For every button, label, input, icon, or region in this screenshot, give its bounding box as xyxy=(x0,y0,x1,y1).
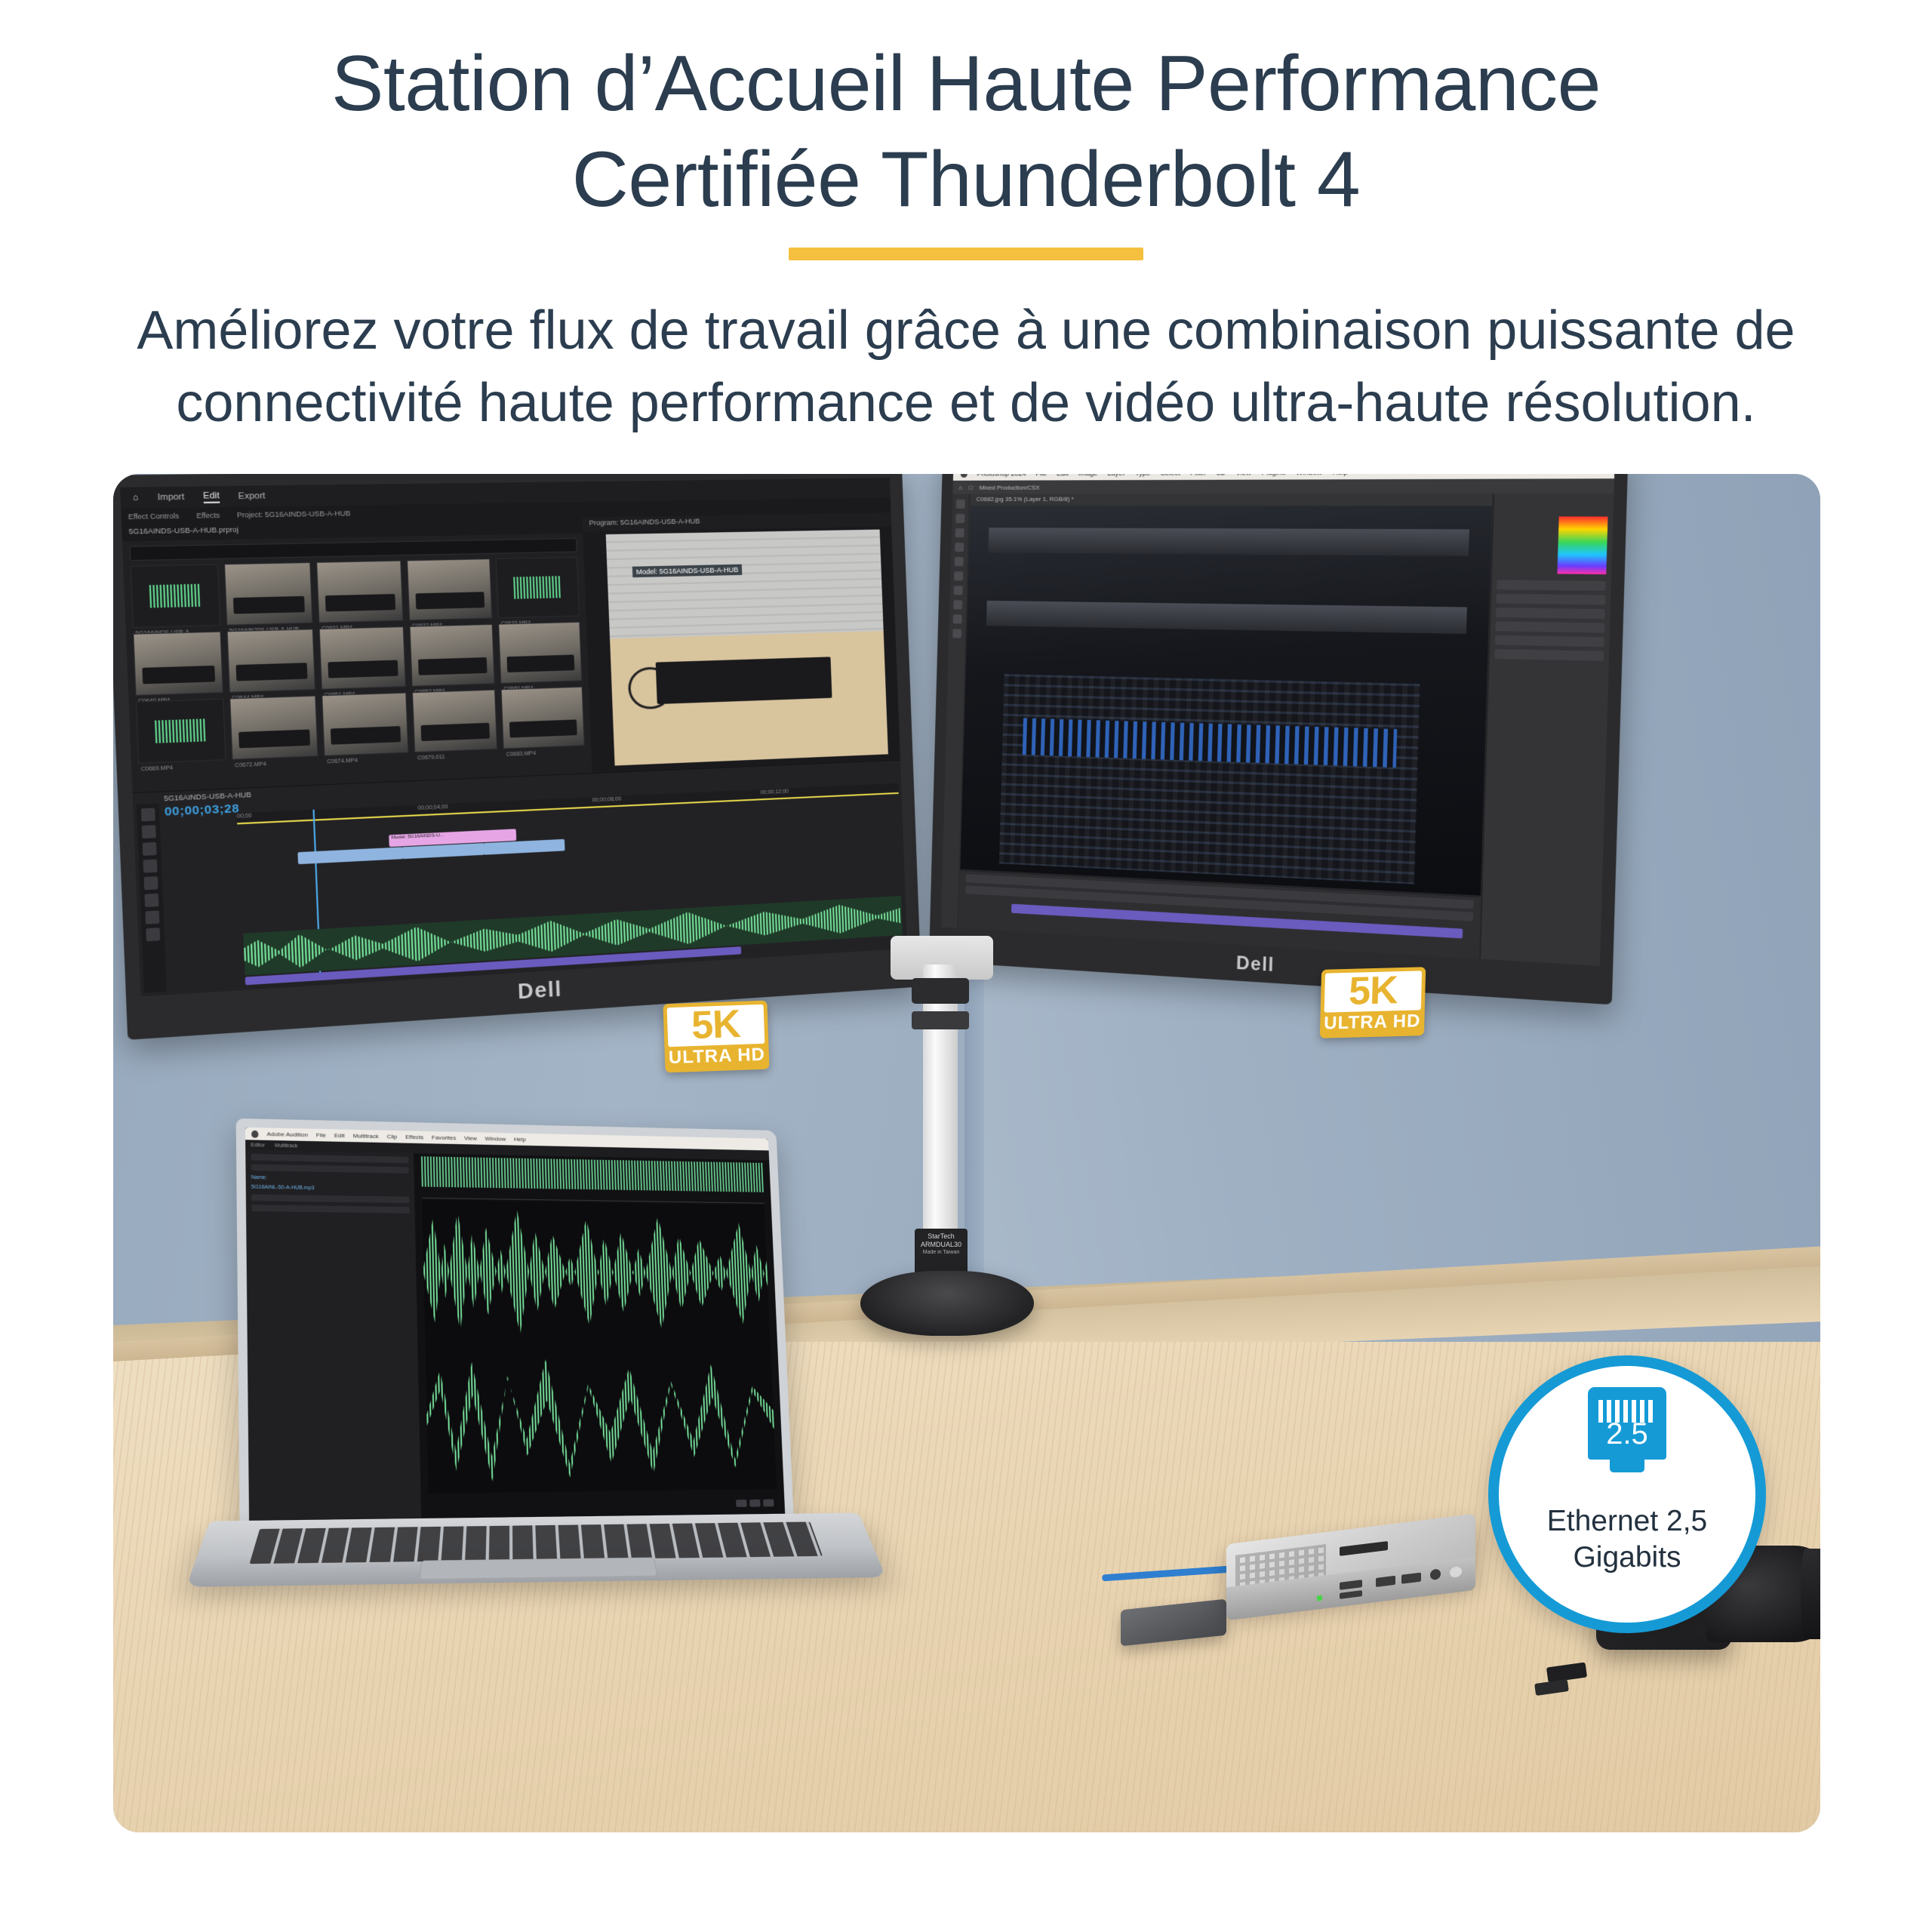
bin-item[interactable]: C0672.MP4 xyxy=(229,695,318,759)
badge-inner: 5K xyxy=(1324,971,1422,1013)
menu-item-file[interactable]: File xyxy=(316,1132,326,1139)
page-title: Station d’Accueil Haute Performance Cert… xyxy=(136,36,1796,228)
panel-row[interactable] xyxy=(1495,635,1604,648)
menu-item-select[interactable]: Select xyxy=(1161,474,1180,476)
menu-item-window[interactable]: Window xyxy=(485,1135,506,1142)
bin-item[interactable]: C0683.MP4 xyxy=(501,687,585,749)
panel-row[interactable] xyxy=(1497,580,1606,591)
bin-item[interactable]: C0640.MP4 xyxy=(133,632,223,696)
menu-item-help[interactable]: Help xyxy=(514,1136,526,1143)
video-background-wall xyxy=(605,530,883,638)
menu-item-edit[interactable]: Edit xyxy=(203,491,220,503)
eraser-tool-icon[interactable] xyxy=(952,629,961,638)
product-photo-panel: ⌂ Import Edit Export Effect Controls Eff… xyxy=(113,474,1820,1832)
workspace-label: Mixed Production/CSX xyxy=(980,484,1040,491)
bin-item[interactable]: C0679.011 xyxy=(412,689,497,752)
marquee-tool-icon[interactable] xyxy=(955,514,964,523)
menu-item-edit[interactable]: Edit xyxy=(334,1132,345,1139)
tab-project[interactable]: Project: 5G16AINDS-USB-A-HUB xyxy=(237,509,351,519)
record-button-icon[interactable] xyxy=(763,1500,774,1507)
photoshop-canvas[interactable] xyxy=(960,506,1492,896)
headline-line-2: Certifiée Thunderbolt 4 xyxy=(136,132,1796,228)
stand-model: ARMDUAL30 xyxy=(915,1241,968,1249)
stand-origin: Made in Taiwan xyxy=(915,1250,968,1257)
badge-5k-ultra-hd-right: 5K ULTRA HD xyxy=(1320,967,1426,1038)
photoshop-options-bar[interactable]: ⌂ □ Mixed Production/CSX xyxy=(952,478,1614,494)
panel-row[interactable] xyxy=(251,1194,409,1203)
rack-perforated-panel xyxy=(999,674,1420,884)
menu-item-clip[interactable]: Clip xyxy=(387,1134,398,1140)
audition-files-panel: Name: 5G16AINL-50-A-HUB.mp3 xyxy=(245,1150,422,1528)
laptop-base xyxy=(186,1512,887,1586)
bin-item[interactable]: C0644.MP4 xyxy=(227,629,316,693)
laptop-trackpad[interactable] xyxy=(419,1558,657,1580)
audition-file-name[interactable]: 5G16AINL-50-A-HUB.mp3 xyxy=(251,1185,409,1192)
apple-logo-icon xyxy=(961,474,968,477)
monitor-left-screen: ⌂ Import Edit Export Effect Controls Eff… xyxy=(120,478,907,996)
timeline-toolbar[interactable] xyxy=(137,804,167,993)
wand-tool-icon[interactable] xyxy=(955,543,964,552)
rj45-speed-value: 2.5 xyxy=(1588,1419,1666,1449)
home-icon[interactable]: ⌂ xyxy=(132,493,138,503)
page-subtitle: Améliorez votre flux de travail grâce à … xyxy=(98,295,1834,440)
dock-brand-logo xyxy=(1340,1541,1388,1556)
pen-tool-icon[interactable] xyxy=(144,894,158,907)
menu-item-type[interactable]: Type xyxy=(1135,474,1150,476)
subheadline-line-1: Améliorez votre flux de travail grâce à … xyxy=(137,300,1795,361)
timeline-timecode: 00;00;03;28 xyxy=(165,801,240,819)
monitor-right-brand: Dell xyxy=(1236,952,1275,976)
dock-usb-c-port xyxy=(1401,1573,1421,1584)
program-monitor-video: Model: 5G16AINDS-USB-A-HUB xyxy=(605,530,888,766)
audition-waveform-editor[interactable] xyxy=(414,1153,786,1525)
menu-item-edit[interactable]: Edit xyxy=(1057,474,1069,477)
dock-sd-slot xyxy=(1340,1580,1362,1590)
premiere-pro-window: ⌂ Import Edit Export Effect Controls Eff… xyxy=(120,478,907,996)
bin-item[interactable]: C0651.MP4 xyxy=(319,626,407,690)
header-block: Station d’Accueil Haute Performance Cert… xyxy=(0,0,1932,453)
monitor-arm-pole xyxy=(923,964,958,1251)
bin-item[interactable]: C0652.MP4 xyxy=(410,624,495,687)
headline-line-1: Station d’Accueil Haute Performance xyxy=(331,40,1601,128)
laptop-display: Adobe Audition File Edit Multitrack Clip… xyxy=(245,1128,786,1528)
dock-power-led xyxy=(1317,1595,1322,1601)
rj45-latch xyxy=(1610,1457,1644,1472)
play-button-icon[interactable] xyxy=(736,1500,747,1507)
transport-controls[interactable] xyxy=(736,1500,774,1507)
tab-multitrack[interactable]: Multitrack xyxy=(275,1143,297,1148)
menu-item-filter[interactable]: Filter xyxy=(1190,474,1206,476)
menu-item-layer[interactable]: Layer xyxy=(1108,474,1125,477)
tab-editor[interactable]: Editor xyxy=(251,1143,265,1148)
selection-tool-icon[interactable] xyxy=(141,808,155,821)
monitor-stand-base xyxy=(860,1271,1034,1336)
callout-label: Ethernet 2,5 Gigabits xyxy=(1488,1503,1766,1575)
project-bin-grid: 5G16AINDS-USB-A... 5G16AIN20S-USB-A-HUB … xyxy=(123,557,591,764)
bin-item[interactable]: C0633.MP4 xyxy=(496,557,580,619)
rack-rail xyxy=(986,601,1467,635)
ripple-edit-tool-icon[interactable] xyxy=(143,842,157,856)
app-name: Adobe Audition xyxy=(266,1131,308,1138)
slip-tool-icon[interactable] xyxy=(143,876,158,890)
bin-item[interactable]: C0631.MP4 xyxy=(316,560,404,623)
photoshop-window: Photoshop 2024 File Edit Image Layer Typ… xyxy=(941,474,1615,966)
panel-row[interactable] xyxy=(251,1204,410,1214)
audition-file-label: Name: xyxy=(251,1175,409,1183)
tab-effect-controls[interactable]: Effect Controls xyxy=(128,512,180,521)
monitor-arm-clamp-upper xyxy=(912,978,969,1004)
razor-tool-icon[interactable] xyxy=(143,859,158,872)
menu-item-image[interactable]: Image xyxy=(1078,474,1098,477)
dock-power-button[interactable] xyxy=(1450,1566,1462,1578)
menu-item-favorites[interactable]: Favorites xyxy=(432,1134,456,1141)
laptop-screen: Adobe Audition File Edit Multitrack Clip… xyxy=(236,1118,795,1540)
badge-5k-ultra-hd-left: 5K ULTRA HD xyxy=(663,1001,769,1073)
ethernet-callout: 2.5 Ethernet 2,5 Gigabits xyxy=(1488,1355,1766,1633)
timeline-clip[interactable] xyxy=(297,847,403,864)
audition-window: Adobe Audition File Edit Multitrack Clip… xyxy=(245,1128,786,1528)
badge-quality: ULTRA HD xyxy=(1324,1011,1421,1035)
bin-item[interactable]: C0632.MP4 xyxy=(407,558,492,620)
brush-tool-icon[interactable] xyxy=(953,600,962,609)
canvas-server-rack-image xyxy=(960,506,1492,896)
video-usb-hub xyxy=(655,657,832,704)
badge-resolution: 5K xyxy=(1335,972,1411,1011)
panel-row[interactable] xyxy=(251,1154,408,1164)
type-tool-icon[interactable] xyxy=(146,928,160,941)
stand-brand: StarTech xyxy=(915,1232,968,1241)
waveform-overview[interactable] xyxy=(421,1156,764,1192)
hand-tool-icon[interactable] xyxy=(145,910,159,924)
menu-item-window[interactable]: Window xyxy=(1296,474,1322,476)
menu-item-view[interactable]: View xyxy=(464,1135,477,1142)
panel-row[interactable] xyxy=(1496,608,1605,619)
dock-audio-jack xyxy=(1430,1568,1441,1580)
camera-lens-cap xyxy=(1801,1549,1820,1639)
bin-item[interactable]: C0674.MP4 xyxy=(321,692,408,756)
callout-label-line-2: Gigabits xyxy=(1488,1540,1766,1576)
panel-row[interactable] xyxy=(251,1164,409,1173)
healing-tool-icon[interactable] xyxy=(954,586,963,595)
track-select-tool-icon[interactable] xyxy=(142,825,156,838)
menu-item-effects[interactable]: Effects xyxy=(405,1134,423,1140)
eyedropper-tool-icon[interactable] xyxy=(954,571,963,580)
panel-row[interactable] xyxy=(1495,621,1604,632)
move-tool-icon[interactable] xyxy=(956,500,965,509)
app-name: Photoshop 2024 xyxy=(977,474,1026,477)
marquee-tool-icon[interactable]: □ xyxy=(969,484,973,491)
badge-quality: ULTRA HD xyxy=(668,1044,765,1069)
apple-logo-icon xyxy=(251,1130,258,1137)
laptop-keyboard[interactable] xyxy=(249,1522,823,1564)
badge-resolution: 5K xyxy=(678,1005,755,1045)
panel-row[interactable] xyxy=(1494,649,1604,661)
stop-button-icon[interactable] xyxy=(749,1500,761,1507)
rj45-ethernet-icon: 2.5 xyxy=(1586,1387,1669,1470)
menu-item-view[interactable]: View xyxy=(1235,474,1251,476)
clone-tool-icon[interactable] xyxy=(953,614,962,623)
subheadline-line-2: connectivité haute performance et de vid… xyxy=(98,368,1834,440)
home-icon[interactable]: ⌂ xyxy=(958,484,962,491)
badge-inner: 5K xyxy=(667,1004,765,1048)
accent-divider xyxy=(789,248,1143,260)
bin-item[interactable]: C0669.MP4 xyxy=(136,699,226,764)
dock-usb-port xyxy=(1376,1576,1395,1587)
panel-row[interactable] xyxy=(1496,594,1605,605)
lasso-tool-icon[interactable] xyxy=(955,528,964,537)
menu-item-import[interactable]: Import xyxy=(157,492,184,502)
menu-item-export[interactable]: Export xyxy=(238,491,265,501)
dock-microsd-slot xyxy=(1340,1590,1362,1599)
menu-item-3d[interactable]: 3D xyxy=(1217,474,1226,476)
crop-tool-icon[interactable] xyxy=(955,557,964,566)
bin-item[interactable]: 5G16AINDS-USB-A... xyxy=(130,564,220,628)
monitor-arm-clamp-lower xyxy=(912,1011,969,1029)
monitor-right: Photoshop 2024 File Edit Image Layer Typ… xyxy=(929,474,1629,1004)
photoshop-panels xyxy=(1480,494,1614,966)
menu-item-multitrack[interactable]: Multitrack xyxy=(353,1133,379,1140)
bin-item[interactable]: C0660.MP4 xyxy=(499,622,583,684)
menu-item-plugins[interactable]: Plugins xyxy=(1262,474,1286,476)
callout-label-line-1: Ethernet 2,5 xyxy=(1488,1503,1766,1540)
menu-item-file[interactable]: File xyxy=(1035,474,1047,477)
waveform-main[interactable] xyxy=(422,1200,777,1494)
premiere-program-monitor: Program: 5G16AINDS-USB-A-HUB Model: 5G16… xyxy=(583,512,901,789)
menu-item-help[interactable]: Help xyxy=(1333,474,1348,476)
color-picker-panel[interactable] xyxy=(1557,516,1607,574)
rj45-jack-shape: 2.5 xyxy=(1588,1387,1666,1460)
rack-rail xyxy=(989,528,1469,556)
bin-item[interactable]: 5G16AIN20S-USB-A-HUB xyxy=(224,562,313,626)
monitor-left: ⌂ Import Edit Export Effect Controls Eff… xyxy=(113,474,921,1040)
monitor-left-brand: Dell xyxy=(517,977,562,1004)
tab-effects[interactable]: Effects xyxy=(196,511,220,519)
monitor-right-screen: Photoshop 2024 File Edit Image Layer Typ… xyxy=(941,474,1615,966)
